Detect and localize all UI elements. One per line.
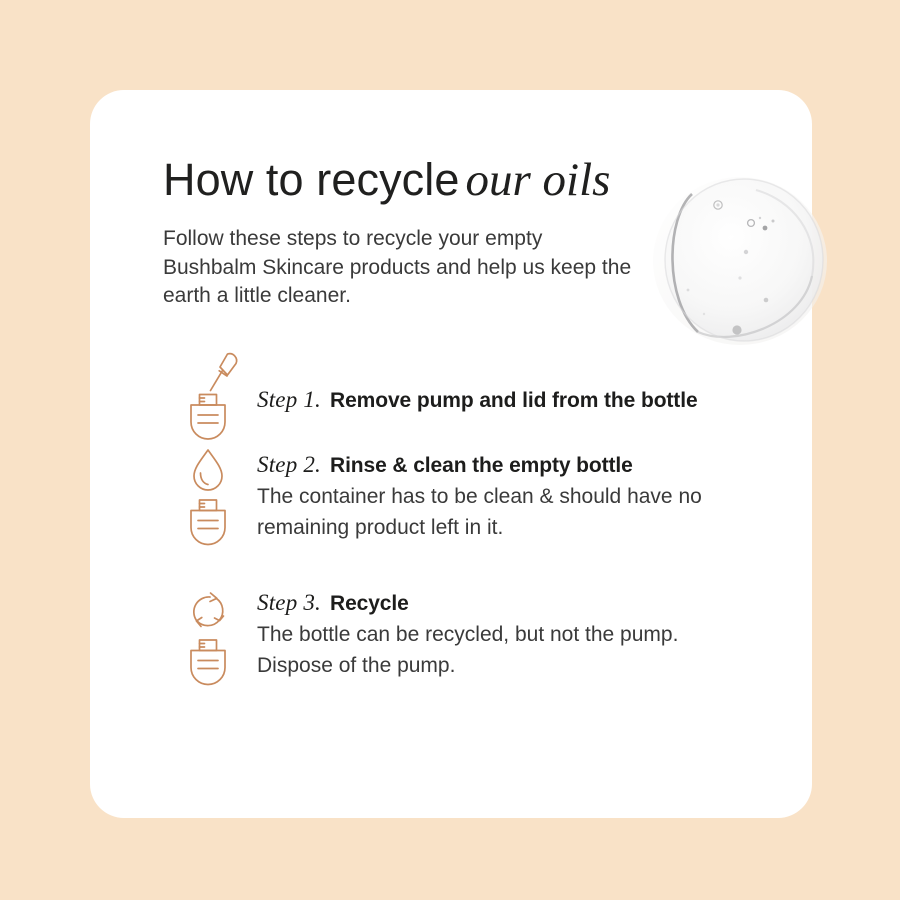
- step-title: Rinse & clean the empty bottle: [321, 454, 633, 477]
- step-label: Step 3.: [257, 590, 321, 615]
- step-description: The bottle can be recycled, but not the …: [257, 620, 757, 681]
- step-text: Step 2.Rinse & clean the empty bottle Th…: [257, 444, 763, 543]
- step-item: Step 2.Rinse & clean the empty bottle Th…: [163, 444, 763, 582]
- steps-list: Step 1.Remove pump and lid from the bott…: [163, 344, 763, 692]
- step-title: Recycle: [321, 592, 409, 615]
- step-title: Remove pump and lid from the bottle: [321, 389, 698, 412]
- page-title-accent: our oils: [460, 154, 611, 206]
- step-description: The container has to be clean & should h…: [257, 482, 757, 543]
- page-title-plain: How to recycle: [163, 154, 460, 205]
- bottle-with-dropper-icon: [163, 344, 257, 440]
- step-item: Step 3.Recycle The bottle can be recycle…: [163, 582, 763, 692]
- step-label: Step 1.: [257, 387, 321, 412]
- step-heading: Step 3.Recycle: [257, 588, 763, 619]
- poster-canvas: How to recycleour oils Follow these step…: [0, 0, 900, 900]
- step-text: Step 1.Remove pump and lid from the bott…: [257, 344, 763, 416]
- page-title: How to recycleour oils: [163, 152, 683, 208]
- step-label: Step 2.: [257, 452, 321, 477]
- header-block: How to recycleour oils Follow these step…: [163, 152, 683, 311]
- page-subtitle: Follow these steps to recycle your empty…: [163, 225, 633, 311]
- step-heading: Step 2.Rinse & clean the empty bottle: [257, 450, 763, 481]
- bottle-with-recycle-arrows-icon: [163, 582, 257, 686]
- step-text: Step 3.Recycle The bottle can be recycle…: [257, 582, 763, 681]
- bottle-with-water-drop-icon: [163, 444, 257, 546]
- step-item: Step 1.Remove pump and lid from the bott…: [163, 344, 763, 444]
- step-heading: Step 1.Remove pump and lid from the bott…: [257, 385, 763, 416]
